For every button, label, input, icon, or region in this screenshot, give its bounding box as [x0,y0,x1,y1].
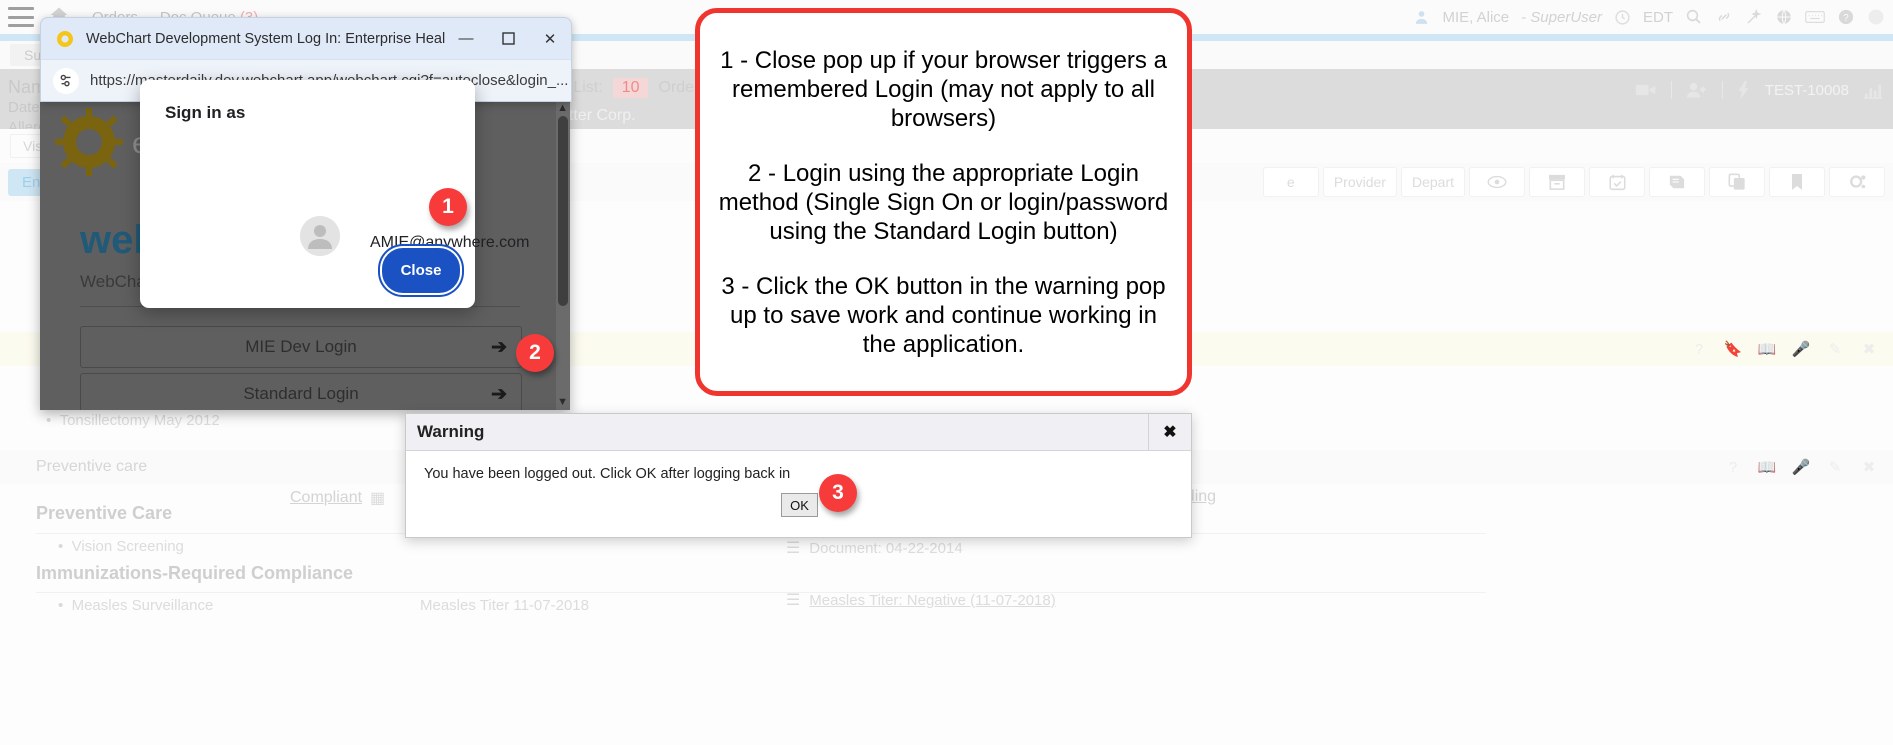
sign-in-close-button[interactable]: Close [382,248,460,293]
surgery-item-label: Tonsillectomy May 2012 [60,412,220,429]
close-icon[interactable]: ✖ [1853,335,1885,363]
magic-wand-icon[interactable] [1745,8,1763,26]
bullet-icon: • [58,538,72,555]
bar-chart-icon[interactable] [1863,81,1883,99]
standard-login-label: Standard Login [243,384,358,404]
warning-dialog-message: You have been logged out. Click OK after… [424,466,790,482]
scroll-down-icon[interactable]: ▼ [557,396,568,408]
browser-titlebar[interactable]: WebChart Development System Log In: Ente… [41,18,571,59]
list-icon: ☰ [786,538,809,558]
link-icon[interactable] [1715,8,1733,26]
step-marker-2: 2 [516,334,554,372]
bookmark-icon[interactable] [1769,167,1825,197]
microphone-icon[interactable]: 🎤 [1785,453,1817,481]
eye-icon[interactable] [1469,167,1525,197]
arrow-right-icon: ➔ [491,383,507,406]
arrow-right-icon: ➔ [491,336,507,359]
timezone-label: EDT [1643,9,1673,26]
row-middle: Measles Titer 11-07-2018 [420,597,589,614]
bookmark-icon[interactable]: 🔖 [1717,335,1749,363]
warning-dialog-title: Warning [417,422,484,442]
welcome-subtitle: WebCha [80,272,146,292]
globe-icon[interactable] [1775,8,1793,26]
bullet-icon: • [46,412,60,429]
mie-dev-login-button[interactable]: MIE Dev Login ➔ [80,326,522,368]
worklist-info: a List: 10 Order F [560,78,714,98]
table-row-detail: ☰ Measles Titer: Negative (11-07-2018) [786,590,1893,610]
warning-dialog-header: Warning ✖ [406,414,1191,451]
user-avatar-circle-icon[interactable] [1867,8,1885,26]
divider [1722,81,1723,99]
user-role: - SuperUser [1521,9,1602,26]
row-detail: Measles Titer: Negative (11-07-2018) [809,592,1056,609]
row-name: Vision Screening [72,538,184,555]
immunizations-title-row: Immunizations-Required Compliance [36,563,1893,584]
history-section-icons: ? 🔖 📖 🎤 ✎ ✖ [1683,335,1885,363]
video-camera-icon[interactable] [1635,82,1657,98]
sunflower-gear-logo [55,108,123,176]
search-icon[interactable] [1685,8,1703,26]
help-icon[interactable]: ? [1683,335,1715,363]
archive-icon[interactable] [1529,167,1585,197]
svg-text:?: ? [1843,13,1849,24]
maximize-button[interactable] [487,18,529,59]
scrollbar-thumb[interactable] [558,116,568,306]
sign-in-title: Sign in as [165,103,245,123]
site-settings-icon[interactable] [53,68,79,94]
pencil-icon[interactable]: ✎ [1819,453,1851,481]
hamburger-icon[interactable] [8,7,34,27]
avatar [1413,9,1430,26]
row-detail: Document: 04-22-2014 [809,540,962,557]
book-icon[interactable]: 📖 [1751,335,1783,363]
help-icon[interactable]: ? [1717,453,1749,481]
instruction-step-2: 2 - Login using the appropriate Login me… [714,159,1173,246]
instruction-step-1: 1 - Close pop up if your browser trigger… [714,46,1173,133]
calendar-check-icon[interactable] [1589,167,1645,197]
close-button[interactable]: ✕ [529,18,571,59]
instruction-callout: 1 - Close pop up if your browser trigger… [695,8,1192,396]
topbar-right: MIE, Alice - SuperUser EDT ? [1413,0,1885,34]
pencil-icon[interactable]: ✎ [1819,335,1851,363]
list-icon: ☰ [786,590,809,610]
copy-icon[interactable] [1709,167,1765,197]
preventive-care-title: Preventive Care [36,503,172,524]
clock-icon[interactable] [1614,9,1631,26]
scroll-up-icon[interactable]: ▲ [557,102,568,114]
immunizations-title: Immunizations-Required Compliance [36,563,353,584]
gear-icon[interactable] [1829,167,1885,197]
add-user-icon[interactable] [1686,81,1708,99]
warning-ok-button[interactable]: OK [781,493,818,517]
patient-id: TEST-10008 [1765,82,1849,99]
help-icon[interactable]: ? [1837,8,1855,26]
enc-button-depart[interactable]: Depart [1401,167,1465,197]
preventive-care-strip-icons: ? 📖 🎤 ✎ ✖ [1717,453,1885,481]
warning-dialog: Warning ✖ You have been logged out. Clic… [405,413,1192,538]
bullet-icon: • [58,597,72,614]
enc-button-e[interactable]: e [1263,167,1319,197]
encounter-actions: e Provider Depart [1263,167,1885,197]
worklist-count-badge: 10 [613,78,649,98]
microphone-icon[interactable]: 🎤 [1785,335,1817,363]
divider [1671,81,1672,99]
preventive-care-strip-label: Preventive care [36,458,147,476]
book-icon[interactable]: 📖 [1751,453,1783,481]
row-name: Measles Surveillance [72,597,214,614]
corporation-label: etter Corp. [560,107,636,125]
webchart-gear-icon [55,29,75,49]
table-row-detail: ☰ Document: 04-22-2014 [786,538,1893,558]
close-icon[interactable]: ✖ [1853,453,1885,481]
person-avatar-icon [300,216,340,256]
lightning-icon[interactable] [1737,81,1751,99]
enc-button-provider[interactable]: Provider [1323,167,1397,197]
scrollbar[interactable]: ▲ ▼ [556,100,570,410]
standard-login-button[interactable]: Standard Login ➔ [80,373,522,410]
book-icon[interactable] [1649,167,1705,197]
user-name[interactable]: MIE, Alice [1442,9,1509,26]
keyboard-icon[interactable] [1805,9,1825,25]
instruction-step-3: 3 - Click the OK button in the warning p… [714,272,1173,359]
minimize-button[interactable]: — [445,18,487,59]
patient-header-actions: TEST-10008 [1635,81,1883,99]
step-marker-3: 3 [819,474,857,512]
step-marker-1: 1 [429,188,467,226]
browser-window-title: WebChart Development System Log In: Ente… [86,31,445,47]
close-icon[interactable]: ✖ [1148,414,1191,450]
mie-dev-login-label: MIE Dev Login [245,337,357,357]
